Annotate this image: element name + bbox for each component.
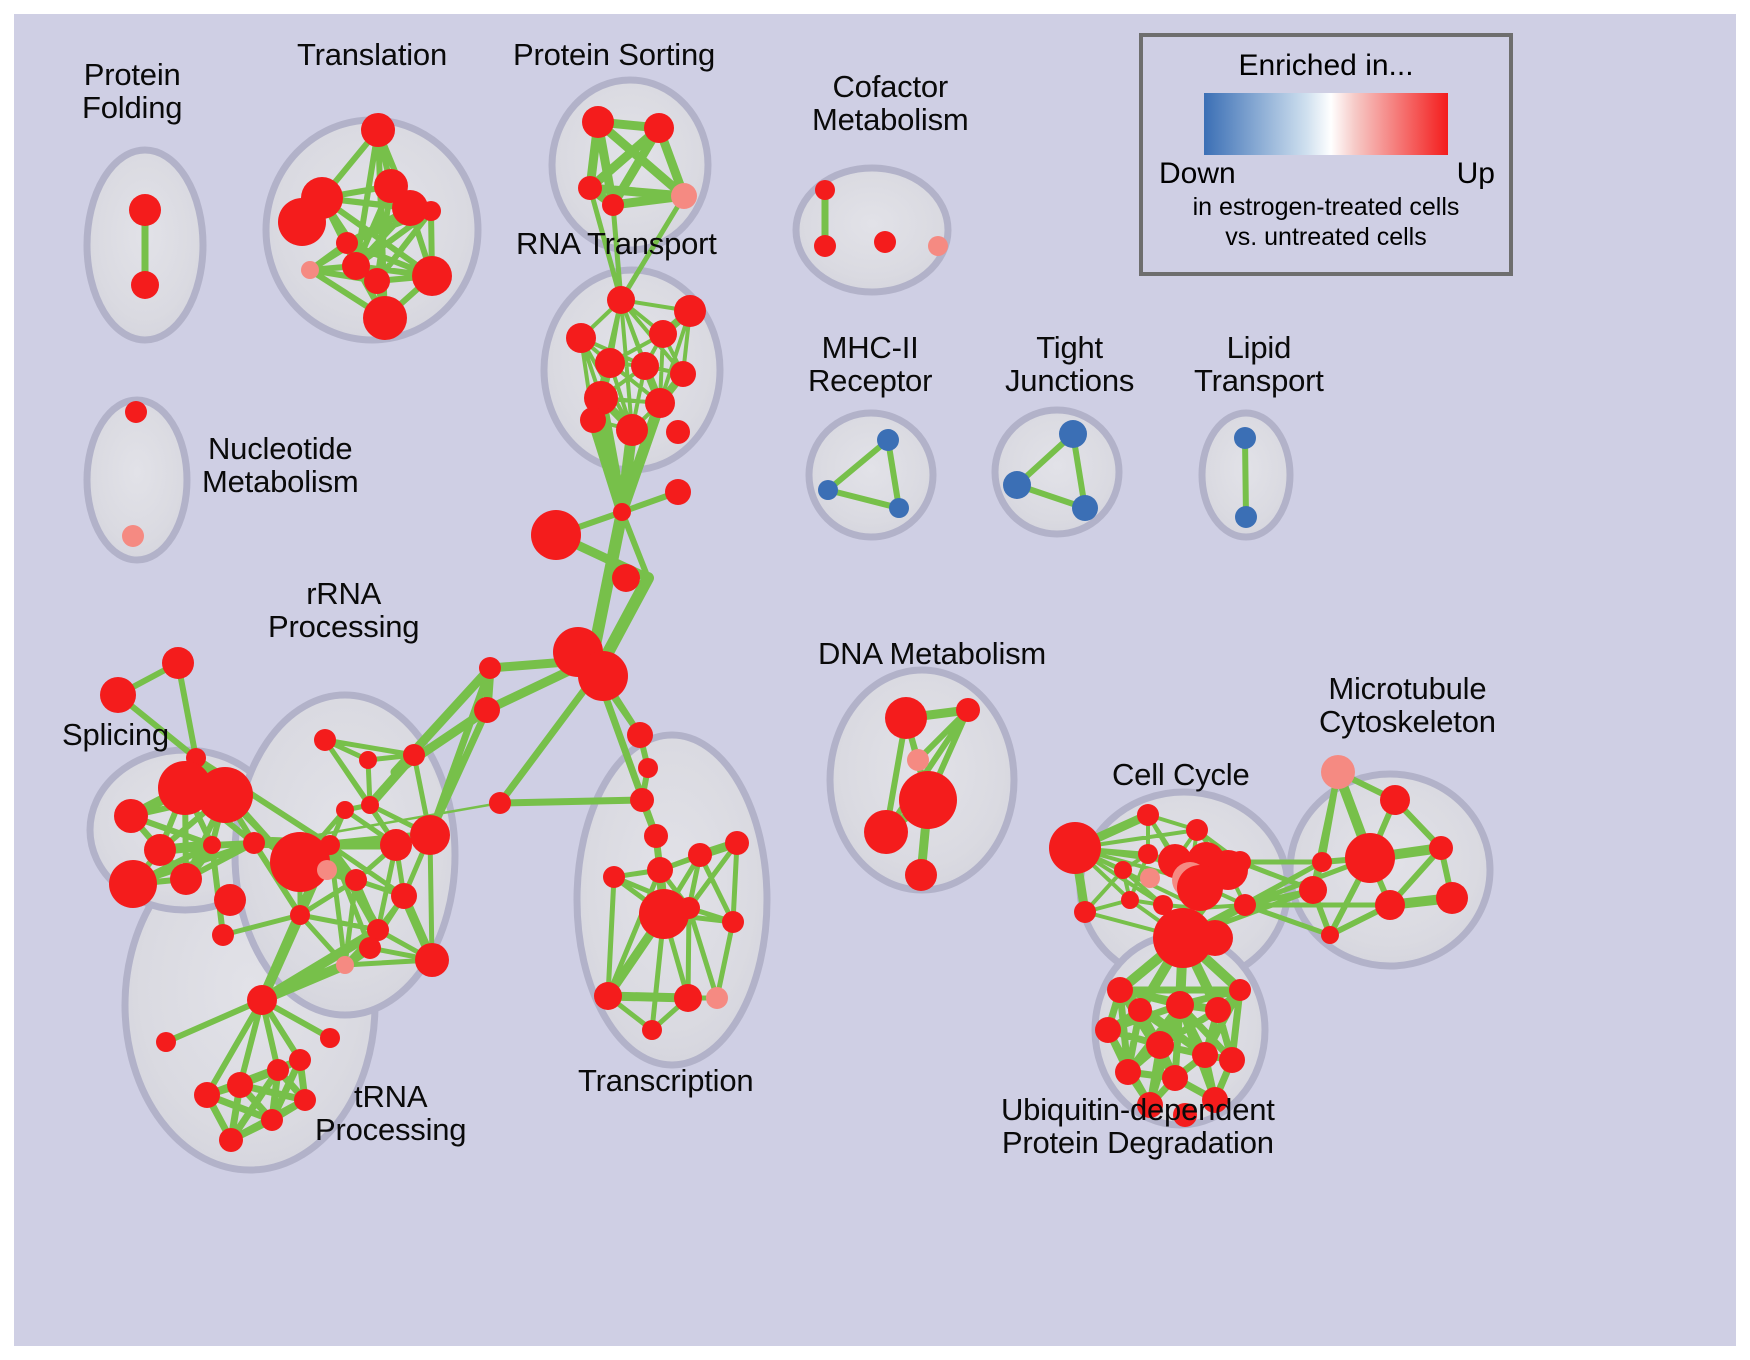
network-node bbox=[361, 796, 379, 814]
network-node bbox=[638, 758, 658, 778]
network-node bbox=[613, 503, 631, 521]
cluster-label-trna-processing: tRNA Processing bbox=[315, 1080, 466, 1147]
network-node bbox=[877, 429, 899, 451]
cluster-ellipse-mhc-ii-receptor bbox=[809, 413, 933, 537]
network-node bbox=[474, 697, 500, 723]
cluster-label-rrna-processing: rRNA Processing bbox=[268, 577, 419, 644]
network-node bbox=[1138, 844, 1158, 864]
network-node bbox=[899, 771, 957, 829]
network-node bbox=[1234, 427, 1256, 449]
network-node bbox=[1375, 890, 1405, 920]
network-node bbox=[359, 937, 381, 959]
network-node bbox=[243, 832, 265, 854]
network-node bbox=[1312, 852, 1332, 872]
network-node bbox=[1137, 804, 1159, 826]
network-node bbox=[317, 860, 337, 880]
network-node bbox=[320, 1028, 340, 1048]
network-node bbox=[247, 985, 277, 1015]
network-node bbox=[1128, 998, 1152, 1022]
network-node bbox=[578, 651, 628, 701]
network-node bbox=[907, 749, 929, 771]
network-node bbox=[688, 843, 712, 867]
network-node bbox=[1107, 977, 1133, 1003]
network-node bbox=[818, 480, 838, 500]
network-node bbox=[203, 836, 221, 854]
network-node bbox=[219, 1128, 243, 1152]
network-node bbox=[649, 320, 677, 348]
network-node bbox=[1095, 1017, 1121, 1043]
network-node bbox=[578, 176, 602, 200]
network-node bbox=[336, 956, 354, 974]
figure-canvas: Protein Folding Translation Protein Sort… bbox=[0, 0, 1750, 1360]
network-node bbox=[631, 352, 659, 380]
network-node bbox=[678, 897, 700, 919]
cluster-label-microtubule-cytoskeleton: Microtubule Cytoskeleton bbox=[1319, 672, 1496, 739]
network-node bbox=[1121, 891, 1139, 909]
network-node bbox=[109, 860, 157, 908]
cluster-label-protein-sorting: Protein Sorting bbox=[513, 38, 715, 71]
cluster-label-rna-transport: RNA Transport bbox=[516, 227, 717, 260]
cluster-label-nucleotide-metabolism: Nucleotide Metabolism bbox=[202, 432, 359, 499]
network-node bbox=[391, 883, 417, 909]
network-node bbox=[289, 1049, 311, 1071]
network-node bbox=[566, 323, 596, 353]
network-node bbox=[364, 268, 390, 294]
network-node bbox=[1140, 868, 1160, 888]
legend-up-label: Up bbox=[1457, 157, 1495, 191]
cluster-label-dna-metabolism: DNA Metabolism bbox=[818, 637, 1046, 670]
cluster-label-cofactor-metabolism: Cofactor Metabolism bbox=[812, 70, 969, 137]
network-node bbox=[361, 113, 395, 147]
network-node bbox=[162, 647, 194, 679]
network-node bbox=[267, 1059, 289, 1081]
cluster-label-ubiquitin-protein-degradation: Ubiquitin-dependent Protein Degradation bbox=[1001, 1093, 1275, 1160]
network-node bbox=[627, 722, 653, 748]
legend-panel: Enriched in... Down Up in estrogen-treat… bbox=[1139, 33, 1513, 276]
network-node bbox=[725, 831, 749, 855]
network-node bbox=[1197, 920, 1233, 956]
network-node bbox=[415, 943, 449, 977]
network-node bbox=[602, 194, 624, 216]
cluster-label-translation: Translation bbox=[297, 38, 447, 71]
network-node bbox=[1146, 1031, 1174, 1059]
network-node bbox=[156, 1032, 176, 1052]
network-node bbox=[1049, 822, 1101, 874]
network-node bbox=[359, 751, 377, 769]
network-node bbox=[647, 857, 673, 883]
network-node bbox=[595, 348, 625, 378]
network-node bbox=[144, 834, 176, 866]
network-node bbox=[214, 884, 246, 916]
network-node bbox=[722, 911, 744, 933]
network-node bbox=[864, 810, 908, 854]
network-node bbox=[403, 744, 425, 766]
network-node bbox=[1186, 819, 1208, 841]
network-node bbox=[122, 525, 144, 547]
network-node bbox=[421, 201, 441, 221]
network-node bbox=[131, 271, 159, 299]
network-node bbox=[580, 407, 606, 433]
legend-down-label: Down bbox=[1159, 157, 1236, 191]
cluster-label-splicing: Splicing bbox=[62, 718, 169, 751]
network-node bbox=[665, 479, 691, 505]
network-node bbox=[644, 113, 674, 143]
network-node bbox=[594, 982, 622, 1010]
network-node bbox=[956, 698, 980, 722]
network-node bbox=[125, 401, 147, 423]
network-node bbox=[905, 859, 937, 891]
legend-subtitle-line1: in estrogen-treated cells bbox=[1143, 193, 1509, 221]
legend-end-labels: Down Up bbox=[1143, 155, 1509, 191]
network-node bbox=[1166, 991, 1194, 1019]
network-node bbox=[874, 231, 896, 253]
network-node bbox=[531, 510, 581, 560]
legend-colorbar bbox=[1204, 93, 1448, 155]
cluster-label-cell-cycle: Cell Cycle bbox=[1112, 758, 1250, 791]
network-node bbox=[1162, 1065, 1188, 1091]
network-node bbox=[616, 414, 648, 446]
network-node bbox=[294, 1089, 316, 1111]
network-node bbox=[314, 729, 336, 751]
network-node bbox=[630, 788, 654, 812]
network-node bbox=[642, 1020, 662, 1040]
network-node bbox=[1192, 1042, 1218, 1068]
network-node bbox=[666, 420, 690, 444]
network-node bbox=[1114, 861, 1132, 879]
cluster-label-tight-junctions: Tight Junctions bbox=[1005, 331, 1134, 398]
network-node bbox=[114, 799, 148, 833]
network-node bbox=[301, 261, 319, 279]
network-node bbox=[582, 106, 614, 138]
cluster-ellipse-protein-sorting bbox=[552, 80, 708, 250]
network-node bbox=[1115, 1059, 1141, 1085]
network-node bbox=[261, 1109, 283, 1131]
network-node bbox=[1234, 894, 1256, 916]
legend-gradient-swatch bbox=[1204, 93, 1448, 155]
network-node bbox=[1219, 1047, 1245, 1073]
network-node bbox=[1321, 926, 1339, 944]
network-node bbox=[674, 295, 706, 327]
network-node bbox=[1436, 882, 1468, 914]
network-node bbox=[612, 564, 640, 592]
network-node bbox=[671, 183, 697, 209]
legend-subtitle-line2: vs. untreated cells bbox=[1143, 223, 1509, 251]
network-node bbox=[670, 361, 696, 387]
network-node bbox=[674, 984, 702, 1012]
network-node bbox=[278, 198, 326, 246]
network-node bbox=[706, 987, 728, 1009]
network-node bbox=[479, 657, 501, 679]
network-node bbox=[644, 824, 668, 848]
network-node bbox=[290, 905, 310, 925]
cluster-label-lipid-transport: Lipid Transport bbox=[1194, 331, 1324, 398]
network-node bbox=[194, 1082, 220, 1108]
network-node bbox=[363, 296, 407, 340]
cluster-label-protein-folding: Protein Folding bbox=[82, 58, 182, 125]
network-node bbox=[100, 677, 136, 713]
network-node bbox=[1299, 876, 1327, 904]
legend-title: Enriched in... bbox=[1143, 49, 1509, 83]
network-node bbox=[412, 256, 452, 296]
network-node bbox=[1380, 785, 1410, 815]
network-node bbox=[212, 924, 234, 946]
network-node bbox=[380, 829, 412, 861]
network-node bbox=[928, 236, 948, 256]
network-node bbox=[1345, 833, 1395, 883]
network-node bbox=[1074, 901, 1096, 923]
network-node bbox=[603, 866, 625, 888]
network-node bbox=[1229, 979, 1251, 1001]
network-node bbox=[489, 792, 511, 814]
network-node bbox=[345, 869, 367, 891]
network-node bbox=[1059, 420, 1087, 448]
network-node bbox=[1429, 836, 1453, 860]
network-node bbox=[607, 286, 635, 314]
network-node bbox=[1072, 495, 1098, 521]
network-node bbox=[129, 194, 161, 226]
network-node bbox=[227, 1072, 253, 1098]
network-node bbox=[197, 767, 253, 823]
network-node bbox=[336, 801, 354, 819]
network-node bbox=[814, 235, 836, 257]
network-node bbox=[889, 498, 909, 518]
network-node bbox=[336, 232, 358, 254]
network-node bbox=[1003, 471, 1031, 499]
cluster-label-mhc-ii-receptor: MHC-II Receptor bbox=[808, 331, 932, 398]
network-node bbox=[170, 863, 202, 895]
network-node bbox=[410, 815, 450, 855]
network-node bbox=[815, 180, 835, 200]
network-node bbox=[1321, 755, 1355, 789]
cluster-label-transcription: Transcription bbox=[578, 1064, 753, 1097]
network-node bbox=[1235, 506, 1257, 528]
network-node bbox=[1205, 997, 1231, 1023]
network-node bbox=[1229, 851, 1251, 873]
network-node bbox=[885, 697, 927, 739]
network-node bbox=[645, 388, 675, 418]
